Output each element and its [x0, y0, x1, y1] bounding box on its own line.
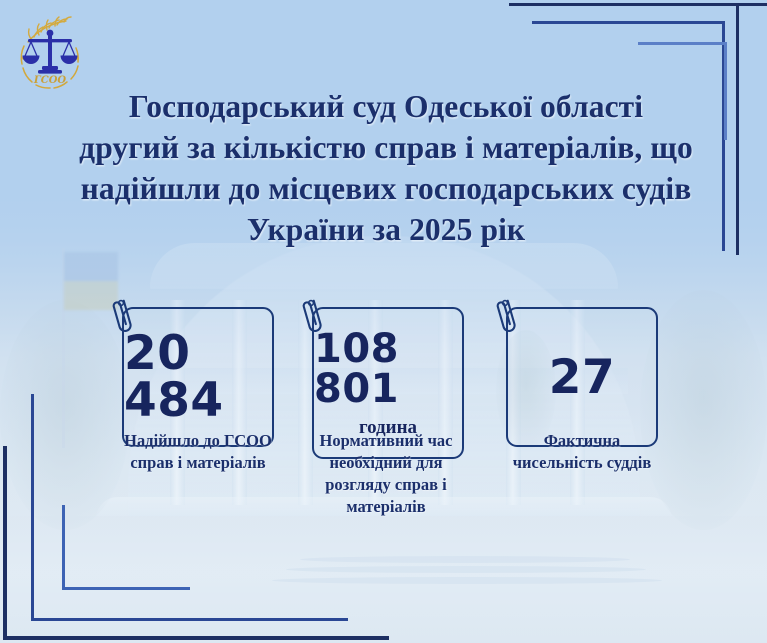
title-line-3: надійшли до місцевих господарських судів [36, 168, 736, 209]
paperclip-icon [298, 295, 332, 337]
page-title: Господарський суд Одеської області други… [36, 86, 736, 250]
frame-line-inner-horizontal [638, 42, 726, 45]
title-line-4: України за 2025 рік [36, 209, 736, 250]
frame-line-middle-horizontal [31, 618, 348, 621]
frame-line-outer-horizontal [3, 636, 389, 640]
paperclip-icon [492, 295, 526, 337]
frame-line-inner-vertical [62, 505, 65, 590]
stat-card-box: 20 484 [122, 307, 274, 447]
caption-line: необхідний для [288, 452, 484, 474]
stat-caption-normative-time: Нормативний час необхідний для розгляду … [288, 430, 484, 518]
stat-number: 27 [549, 354, 615, 401]
frame-line-outer-vertical [3, 446, 7, 640]
title-line-1: Господарський суд Одеської області [36, 86, 736, 127]
scales-of-justice-icon: ГСОО [8, 12, 92, 96]
stat-number: 20 484 [124, 330, 272, 424]
frame-line-outer-vertical [736, 3, 739, 255]
frame-line-inner-horizontal [62, 587, 190, 590]
caption-line: розгляду справ і [288, 474, 484, 496]
paperclip-icon [108, 295, 142, 337]
title-line-2: другий за кількістю справ і матеріалів, … [36, 127, 736, 168]
caption-line: Надійшло до ГСОО [92, 430, 304, 452]
caption-line: справ і матеріалів [92, 452, 304, 474]
stat-number: 108 801 [314, 329, 462, 409]
logo-abbreviation: ГСОО [33, 75, 67, 86]
caption-line: Нормативний час [288, 430, 484, 452]
caption-line: чисельність суддів [480, 452, 684, 474]
frame-line-outer-horizontal [509, 3, 767, 6]
stat-caption-judges-count: Фактична чисельність суддів [480, 430, 684, 474]
court-emblem-logo: ГСОО [8, 12, 92, 96]
stat-caption-cases-received: Надійшло до ГСОО справ і матеріалів [92, 430, 304, 474]
frame-line-middle-horizontal [532, 21, 725, 24]
caption-line: матеріалів [288, 496, 484, 518]
caption-line: Фактична [480, 430, 684, 452]
stat-card-box: 27 [506, 307, 658, 447]
